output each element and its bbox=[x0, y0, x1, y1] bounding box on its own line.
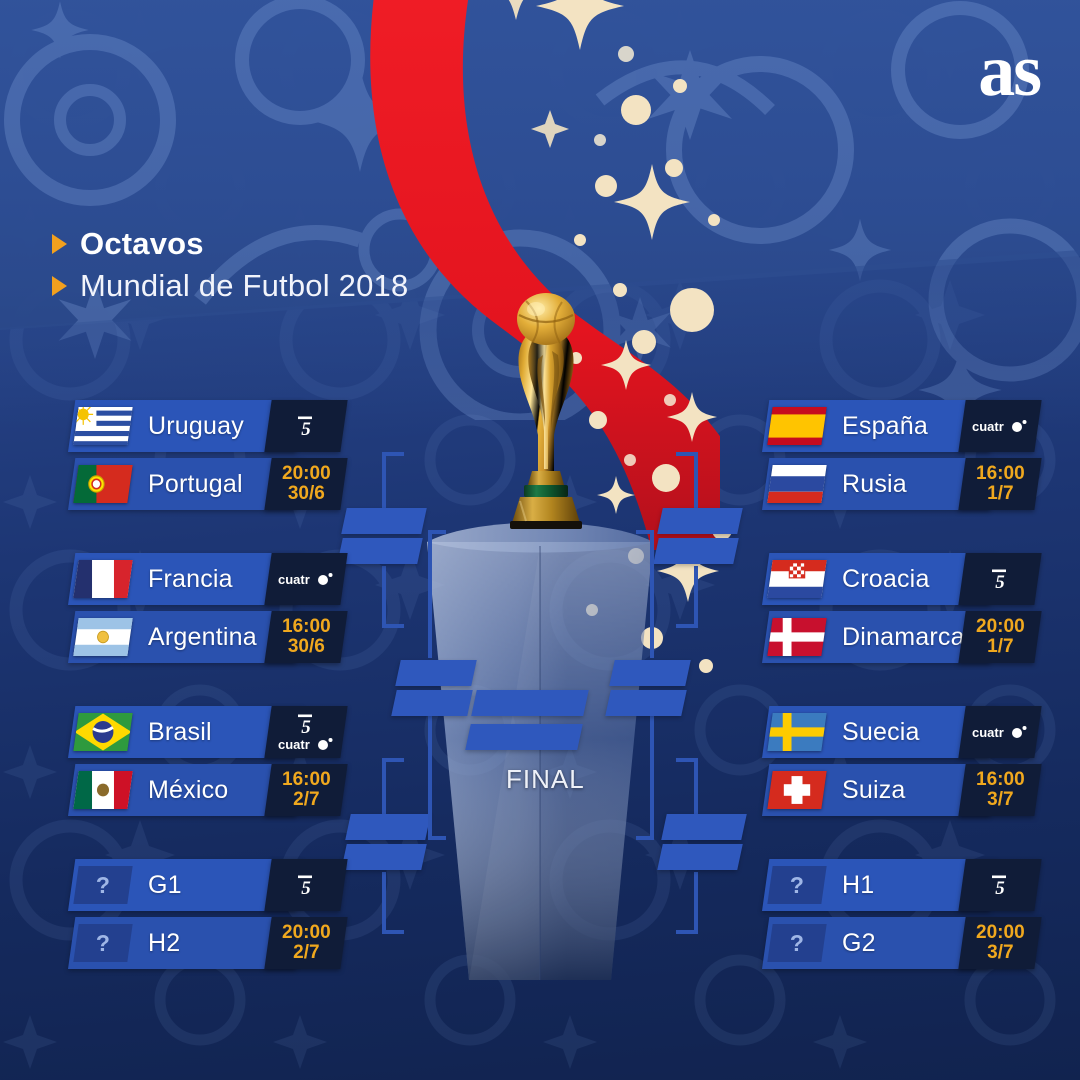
page-subtitle: Mundial de Futbol 2018 bbox=[80, 268, 408, 304]
kickoff-panel: 20:002/7 bbox=[264, 917, 347, 969]
title-row-primary: Octavos bbox=[52, 226, 408, 262]
svg-text:5: 5 bbox=[301, 419, 311, 438]
flag-mexico-icon bbox=[73, 771, 132, 809]
flag-portugal-icon bbox=[73, 465, 132, 503]
kickoff-date: 3/7 bbox=[976, 943, 1025, 963]
unknown-flag-placeholder: ? bbox=[73, 866, 132, 904]
flag-dinamarca-icon bbox=[767, 618, 826, 656]
kickoff-date: 30/6 bbox=[282, 484, 331, 504]
match-row[interactable]: Rusia16:001/7 bbox=[762, 458, 1032, 510]
team-name: G2 bbox=[842, 917, 876, 969]
team-name: México bbox=[148, 764, 228, 816]
bracket-line bbox=[694, 758, 698, 820]
kickoff-date: 3/7 bbox=[976, 790, 1025, 810]
match-card[interactable]: ?G15?H220:002/7 bbox=[68, 859, 338, 975]
team-name: Francia bbox=[148, 553, 233, 605]
quarterfinal-slot bbox=[341, 508, 427, 534]
kickoff-info: 16:003/7 bbox=[976, 770, 1025, 810]
flag-rusia-icon bbox=[767, 465, 826, 503]
kickoff-panel: 16:002/7 bbox=[264, 764, 347, 816]
team-name: G1 bbox=[148, 859, 182, 911]
semifinal-slot bbox=[391, 690, 473, 716]
flag-suiza-icon bbox=[767, 771, 826, 809]
bracket-line bbox=[650, 712, 654, 840]
unknown-flag-placeholder: ? bbox=[767, 924, 826, 962]
bracket-line bbox=[694, 872, 698, 934]
match-row[interactable]: Dinamarca20:001/7 bbox=[762, 611, 1032, 663]
match-card[interactable]: Uruguay5Portugal20:0030/6 bbox=[68, 400, 338, 516]
channel-panel: cuatr bbox=[958, 400, 1041, 452]
svg-text:cuatr: cuatr bbox=[972, 419, 1004, 434]
svg-text:cuatr: cuatr bbox=[972, 725, 1004, 740]
bracket-tick bbox=[428, 530, 446, 534]
team-name: Argentina bbox=[148, 611, 257, 663]
triangle-bullet-icon bbox=[52, 234, 67, 254]
team-name: Rusia bbox=[842, 458, 907, 510]
match-row[interactable]: Portugal20:0030/6 bbox=[68, 458, 338, 510]
question-mark-icon: ? bbox=[96, 930, 110, 957]
channel-panel: 5 bbox=[264, 859, 347, 911]
match-row[interactable]: Sueciacuatr bbox=[762, 706, 1032, 758]
page-title: Octavos bbox=[80, 226, 204, 262]
match-row[interactable]: Brasil5cuatr bbox=[68, 706, 338, 758]
flag-suecia-icon bbox=[767, 713, 826, 751]
channel-logos: 5 bbox=[987, 873, 1013, 897]
quarterfinal-slot bbox=[341, 844, 427, 870]
flag-argentina-icon bbox=[73, 618, 132, 656]
final-label: FINAL bbox=[506, 764, 585, 795]
kickoff-date: 1/7 bbox=[976, 484, 1025, 504]
bracket-tick bbox=[636, 836, 654, 840]
kickoff-info: 20:002/7 bbox=[282, 923, 331, 963]
bracket-tick bbox=[676, 758, 698, 762]
bracket-line bbox=[382, 566, 386, 628]
bracket-tick bbox=[382, 758, 404, 762]
svg-text:5: 5 bbox=[301, 717, 311, 736]
bracket-line bbox=[382, 758, 386, 820]
team-name: Dinamarca bbox=[842, 611, 965, 663]
team-name: Suiza bbox=[842, 764, 906, 816]
channel-panel: 5 bbox=[958, 859, 1041, 911]
channel-logos: cuatr bbox=[971, 724, 1029, 740]
bracket-line bbox=[694, 566, 698, 628]
as-logo[interactable]: as bbox=[978, 34, 1040, 108]
channel-panel: cuatr bbox=[958, 706, 1041, 758]
kickoff-panel: 16:0030/6 bbox=[264, 611, 347, 663]
bracket-line bbox=[428, 712, 432, 840]
channel-panel: 5cuatr bbox=[264, 706, 347, 758]
flag-croacia-icon bbox=[767, 560, 826, 598]
telecinco-logo-icon: 5 bbox=[293, 414, 319, 438]
team-name: Suecia bbox=[842, 706, 920, 758]
kickoff-time: 16:00 bbox=[976, 770, 1025, 790]
bracket-line bbox=[428, 530, 432, 658]
match-row[interactable]: Uruguay5 bbox=[68, 400, 338, 452]
quarterfinal-slot bbox=[345, 814, 431, 840]
unknown-flag-placeholder: ? bbox=[73, 924, 132, 962]
bracket-tick bbox=[382, 930, 404, 934]
bracket-tick bbox=[676, 452, 698, 456]
channel-panel: 5 bbox=[264, 400, 347, 452]
match-row[interactable]: ?G220:003/7 bbox=[762, 917, 1032, 969]
bracket-line bbox=[382, 452, 386, 514]
unknown-flag-placeholder: ? bbox=[767, 866, 826, 904]
world-cup-trophy bbox=[486, 285, 606, 530]
channel-logos: 5 bbox=[293, 873, 319, 897]
match-row[interactable]: Argentina16:0030/6 bbox=[68, 611, 338, 663]
kickoff-panel: 20:0030/6 bbox=[264, 458, 347, 510]
bracket-tick bbox=[676, 930, 698, 934]
channel-logos: cuatr bbox=[971, 418, 1029, 434]
cuatro-logo-icon: cuatr bbox=[277, 737, 335, 752]
kickoff-date: 2/7 bbox=[282, 943, 331, 963]
question-mark-icon: ? bbox=[96, 872, 110, 899]
infographic-root: FINAL as Octavos Mundial de Futbol 2018 … bbox=[0, 0, 1080, 1080]
kickoff-time: 16:00 bbox=[282, 770, 331, 790]
cuatro-logo-icon: cuatr bbox=[277, 572, 335, 587]
svg-text:5: 5 bbox=[301, 878, 311, 897]
bracket-line bbox=[694, 452, 698, 514]
match-row[interactable]: ?G15 bbox=[68, 859, 338, 911]
title-block: Octavos Mundial de Futbol 2018 bbox=[52, 226, 408, 310]
kickoff-time: 16:00 bbox=[976, 464, 1025, 484]
flag-uruguay-icon bbox=[73, 407, 132, 445]
final-slot bbox=[471, 690, 589, 716]
quarterfinal-slot bbox=[661, 814, 747, 840]
team-name: H2 bbox=[148, 917, 180, 969]
match-row[interactable]: ?H220:002/7 bbox=[68, 917, 338, 969]
match-row[interactable]: ?H15 bbox=[762, 859, 1032, 911]
kickoff-date: 1/7 bbox=[976, 637, 1025, 657]
telecinco-logo-icon: 5 bbox=[293, 873, 319, 897]
kickoff-date: 2/7 bbox=[282, 790, 331, 810]
quarterfinal-slot bbox=[657, 844, 743, 870]
match-card[interactable]: EspañacuatrRusia16:001/7 bbox=[762, 400, 1032, 516]
cuatro-logo-icon: cuatr bbox=[971, 725, 1029, 740]
kickoff-time: 16:00 bbox=[282, 617, 331, 637]
svg-text:cuatr: cuatr bbox=[278, 737, 310, 752]
cuatro-logo-icon: cuatr bbox=[971, 419, 1029, 434]
channel-panel: cuatr bbox=[264, 553, 347, 605]
channel-logos: 5 bbox=[293, 414, 319, 438]
kickoff-panel: 20:001/7 bbox=[958, 611, 1041, 663]
kickoff-info: 16:0030/6 bbox=[282, 617, 331, 657]
kickoff-info: 20:001/7 bbox=[976, 617, 1025, 657]
bracket-tick bbox=[382, 452, 404, 456]
channel-logos: cuatr bbox=[277, 571, 335, 587]
question-mark-icon: ? bbox=[790, 872, 804, 899]
bracket-tick bbox=[676, 624, 698, 628]
kickoff-time: 20:00 bbox=[282, 464, 331, 484]
question-mark-icon: ? bbox=[790, 930, 804, 957]
semifinal-slot bbox=[605, 690, 687, 716]
flag-espana-icon bbox=[767, 407, 826, 445]
match-card[interactable]: FranciacuatrArgentina16:0030/6 bbox=[68, 553, 338, 669]
semifinal-slot bbox=[395, 660, 477, 686]
kickoff-time: 20:00 bbox=[976, 923, 1025, 943]
telecinco-logo-icon: 5 bbox=[293, 712, 319, 736]
quarterfinal-slot bbox=[337, 538, 423, 564]
flag-francia-icon bbox=[73, 560, 132, 598]
match-row[interactable]: Croacia5 bbox=[762, 553, 1032, 605]
match-card[interactable]: ?H15?G220:003/7 bbox=[762, 859, 1032, 975]
match-card[interactable]: SueciacuatrSuiza16:003/7 bbox=[762, 706, 1032, 822]
team-name: Croacia bbox=[842, 553, 930, 605]
match-row[interactable]: Franciacuatr bbox=[68, 553, 338, 605]
svg-text:5: 5 bbox=[995, 572, 1005, 591]
telecinco-logo-icon: 5 bbox=[987, 567, 1013, 591]
match-row[interactable]: Suiza16:003/7 bbox=[762, 764, 1032, 816]
bracket-tick bbox=[428, 836, 446, 840]
title-row-secondary: Mundial de Futbol 2018 bbox=[52, 268, 408, 304]
bracket-line bbox=[650, 530, 654, 658]
kickoff-panel: 20:003/7 bbox=[958, 917, 1041, 969]
kickoff-info: 20:003/7 bbox=[976, 923, 1025, 963]
match-row[interactable]: Españacuatr bbox=[762, 400, 1032, 452]
team-name: Portugal bbox=[148, 458, 243, 510]
kickoff-info: 16:002/7 bbox=[282, 770, 331, 810]
team-name: Uruguay bbox=[148, 400, 244, 452]
match-row[interactable]: México16:002/7 bbox=[68, 764, 338, 816]
telecinco-logo-icon: 5 bbox=[987, 873, 1013, 897]
kickoff-info: 20:0030/6 bbox=[282, 464, 331, 504]
bracket-tick bbox=[382, 624, 404, 628]
triangle-bullet-icon bbox=[52, 276, 67, 296]
svg-text:5: 5 bbox=[995, 878, 1005, 897]
bracket-line bbox=[382, 872, 386, 934]
team-name: Brasil bbox=[148, 706, 212, 758]
channel-logos: 5 bbox=[987, 567, 1013, 591]
kickoff-time: 20:00 bbox=[976, 617, 1025, 637]
kickoff-panel: 16:003/7 bbox=[958, 764, 1041, 816]
quarterfinal-slot bbox=[653, 538, 739, 564]
channel-panel: 5 bbox=[958, 553, 1041, 605]
kickoff-panel: 16:001/7 bbox=[958, 458, 1041, 510]
bracket-tick bbox=[636, 530, 654, 534]
channel-logos: 5cuatr bbox=[277, 712, 335, 752]
kickoff-date: 30/6 bbox=[282, 637, 331, 657]
quarterfinal-slot bbox=[657, 508, 743, 534]
kickoff-info: 16:001/7 bbox=[976, 464, 1025, 504]
semifinal-slot bbox=[609, 660, 691, 686]
match-card[interactable]: Croacia5Dinamarca20:001/7 bbox=[762, 553, 1032, 669]
kickoff-time: 20:00 bbox=[282, 923, 331, 943]
match-card[interactable]: Brasil5cuatrMéxico16:002/7 bbox=[68, 706, 338, 822]
team-name: España bbox=[842, 400, 928, 452]
final-slot bbox=[465, 724, 583, 750]
flag-brasil-icon bbox=[73, 713, 132, 751]
team-name: H1 bbox=[842, 859, 874, 911]
svg-text:cuatr: cuatr bbox=[278, 572, 310, 587]
